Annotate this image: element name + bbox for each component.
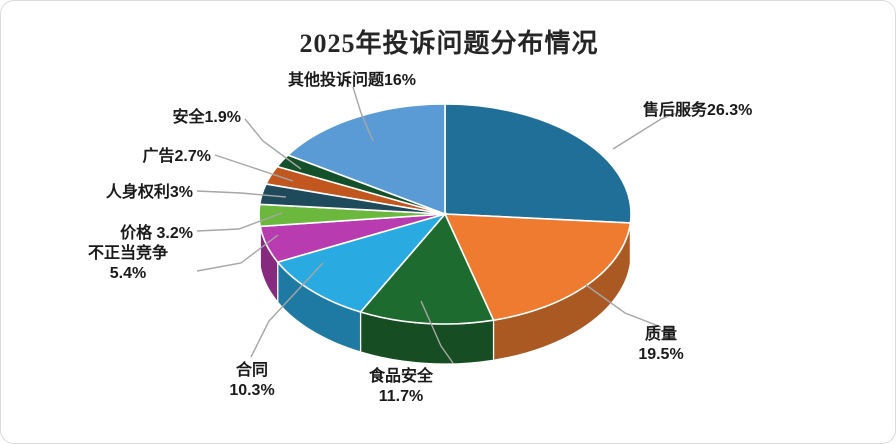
slice-label-unfair-competition-pct: 5.4% <box>63 264 193 284</box>
slice-label-other: 其他投诉问题16% <box>288 71 416 91</box>
slice-label-contract-name: 合同 <box>197 361 307 381</box>
slice-label-food-safety-pct: 11.7% <box>341 387 461 407</box>
pie-top-faces <box>259 104 631 324</box>
slice-label-quality: 质量 19.5% <box>606 325 716 366</box>
slice-label-food-safety-name: 食品安全 <box>341 367 461 387</box>
slice-label-personal-rights: 人身权利3% <box>53 183 193 203</box>
slice-label-advertising: 广告2.7% <box>71 147 211 167</box>
slice-label-unfair-competition: 不正当竞争 5.4% <box>63 244 193 285</box>
pie-chart-card: 2025年投诉问题分布情况 售后服务26.3% 质量 19.5% 食品安全 11… <box>0 0 896 444</box>
slice-label-quality-name: 质量 <box>606 325 716 345</box>
slice-label-price: 价格 3.2% <box>63 224 193 244</box>
slice-label-food-safety: 食品安全 11.7% <box>341 367 461 408</box>
slice-label-safety: 安全1.9% <box>101 108 241 128</box>
slice-label-contract-pct: 10.3% <box>197 381 307 401</box>
slice-label-after-sales: 售后服务26.3% <box>643 101 752 121</box>
slice-label-quality-pct: 19.5% <box>606 345 716 365</box>
pie-slice-售后服务[interactable] <box>445 104 631 223</box>
slice-label-unfair-competition-name: 不正当竞争 <box>63 244 193 264</box>
slice-label-contract: 合同 10.3% <box>197 361 307 402</box>
